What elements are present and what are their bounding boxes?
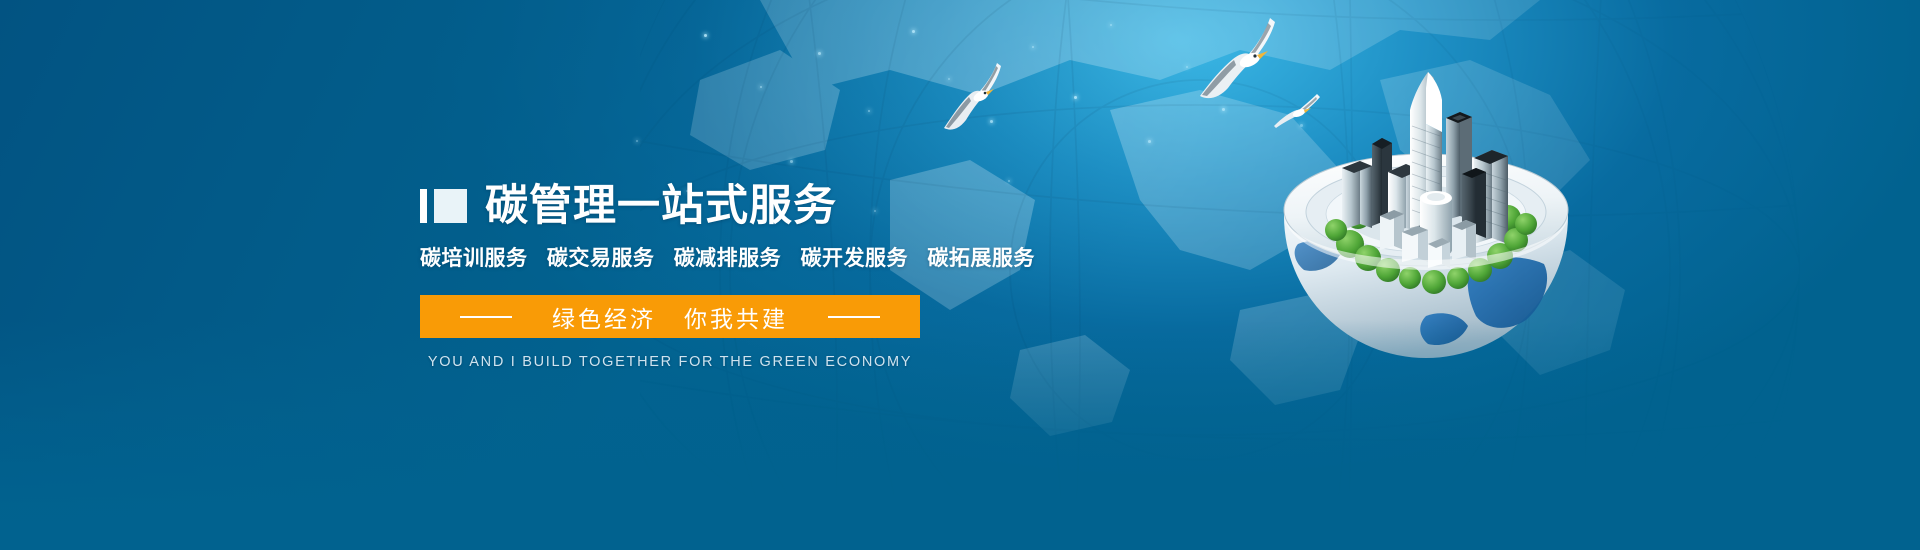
banner-copy: 碳管理一站式服务 碳培训服务 碳交易服务 碳减排服务 碳开发服务 碳拓展服务 绿…	[420, 180, 1060, 370]
service-item: 碳开发服务	[801, 247, 909, 270]
slogan-ribbon: 绿色经济你我共建	[420, 295, 920, 338]
service-item: 碳拓展服务	[927, 247, 1035, 270]
service-item: 碳培训服务	[420, 247, 528, 270]
service-item: 碳交易服务	[547, 247, 655, 270]
ribbon-slogan: 绿色经济你我共建	[538, 300, 802, 334]
service-list: 碳培训服务 碳交易服务 碳减排服务 碳开发服务 碳拓展服务	[420, 242, 1060, 272]
slogan-part-2: 你我共建	[670, 306, 802, 332]
page-title: 碳管理一站式服务	[485, 185, 837, 228]
slogan-part-1: 绿色经济	[538, 306, 670, 332]
english-tagline: YOU AND I BUILD TOGETHER FOR THE GREEN E…	[420, 354, 920, 370]
title-row: 碳管理一站式服务	[420, 180, 1060, 232]
mark-square-shape	[434, 189, 467, 223]
bar-square-mark-icon	[420, 189, 467, 223]
seagull-center-icon	[1190, 12, 1278, 104]
mark-bar-shape	[420, 189, 427, 223]
ribbon-rule-left	[460, 316, 512, 318]
service-item: 碳减排服务	[674, 247, 782, 270]
ribbon-rule-right	[828, 316, 880, 318]
seagull-left-icon	[938, 58, 1004, 134]
hero-banner: 碳管理一站式服务 碳培训服务 碳交易服务 碳减排服务 碳开发服务 碳拓展服务 绿…	[0, 0, 1920, 550]
